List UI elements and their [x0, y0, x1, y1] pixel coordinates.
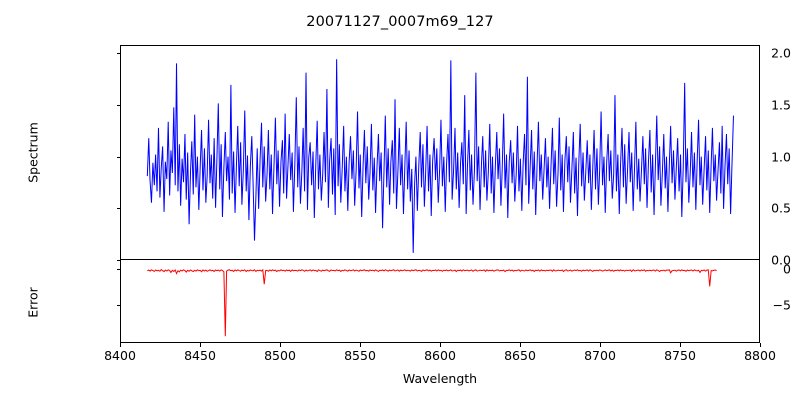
x-tick-mark [200, 343, 201, 347]
error-line-series [121, 260, 759, 342]
spectrum-y-tick-label: 2.0 [696, 46, 800, 61]
x-tick-mark [600, 343, 601, 347]
x-tick-label: 8700 [584, 348, 616, 363]
error-y-tick-label: 0 [696, 261, 800, 276]
x-tick-label: 8600 [424, 348, 456, 363]
y-axis-label-error: Error [26, 256, 41, 350]
page-title: 20071127_0007m69_127 [0, 14, 800, 30]
spectrum-y-tick-mark [117, 53, 121, 54]
spectrum-y-tick-label: 1.5 [696, 98, 800, 113]
spectrum-y-tick-mark [117, 208, 121, 209]
spectrum-line-series [121, 46, 759, 259]
x-tick-mark [520, 343, 521, 347]
x-tick-label: 8400 [104, 348, 136, 363]
error-y-tick-mark [117, 305, 121, 306]
x-tick-mark [440, 343, 441, 347]
x-tick-label: 8550 [344, 348, 376, 363]
x-tick-label: 8650 [504, 348, 536, 363]
x-tick-mark [760, 343, 761, 347]
x-tick-label: 8750 [664, 348, 696, 363]
x-tick-label: 8450 [184, 348, 216, 363]
error-y-tick-mark [117, 269, 121, 270]
error-plot-area [120, 260, 760, 343]
spectrum-y-tick-mark [117, 105, 121, 106]
x-tick-mark [680, 343, 681, 347]
spectrum-y-tick-label: 1.0 [696, 149, 800, 164]
spectrum-y-tick-mark [117, 260, 121, 261]
error-y-tick-label: −5 [696, 297, 800, 312]
x-tick-mark [280, 343, 281, 347]
spectrum-y-tick-mark [117, 157, 121, 158]
spectrum-y-tick-label: 0.5 [696, 201, 800, 216]
spectrum-plot-area [120, 45, 760, 260]
x-tick-mark [120, 343, 121, 347]
matplotlib-figure: 20071127_0007m69_127 0.00.51.01.52.00−58… [0, 0, 800, 400]
y-axis-label-spectrum: Spectrum [26, 93, 41, 213]
x-tick-label: 8500 [264, 348, 296, 363]
x-tick-mark [360, 343, 361, 347]
x-tick-label: 8800 [744, 348, 776, 363]
x-axis-label: Wavelength [120, 371, 760, 386]
